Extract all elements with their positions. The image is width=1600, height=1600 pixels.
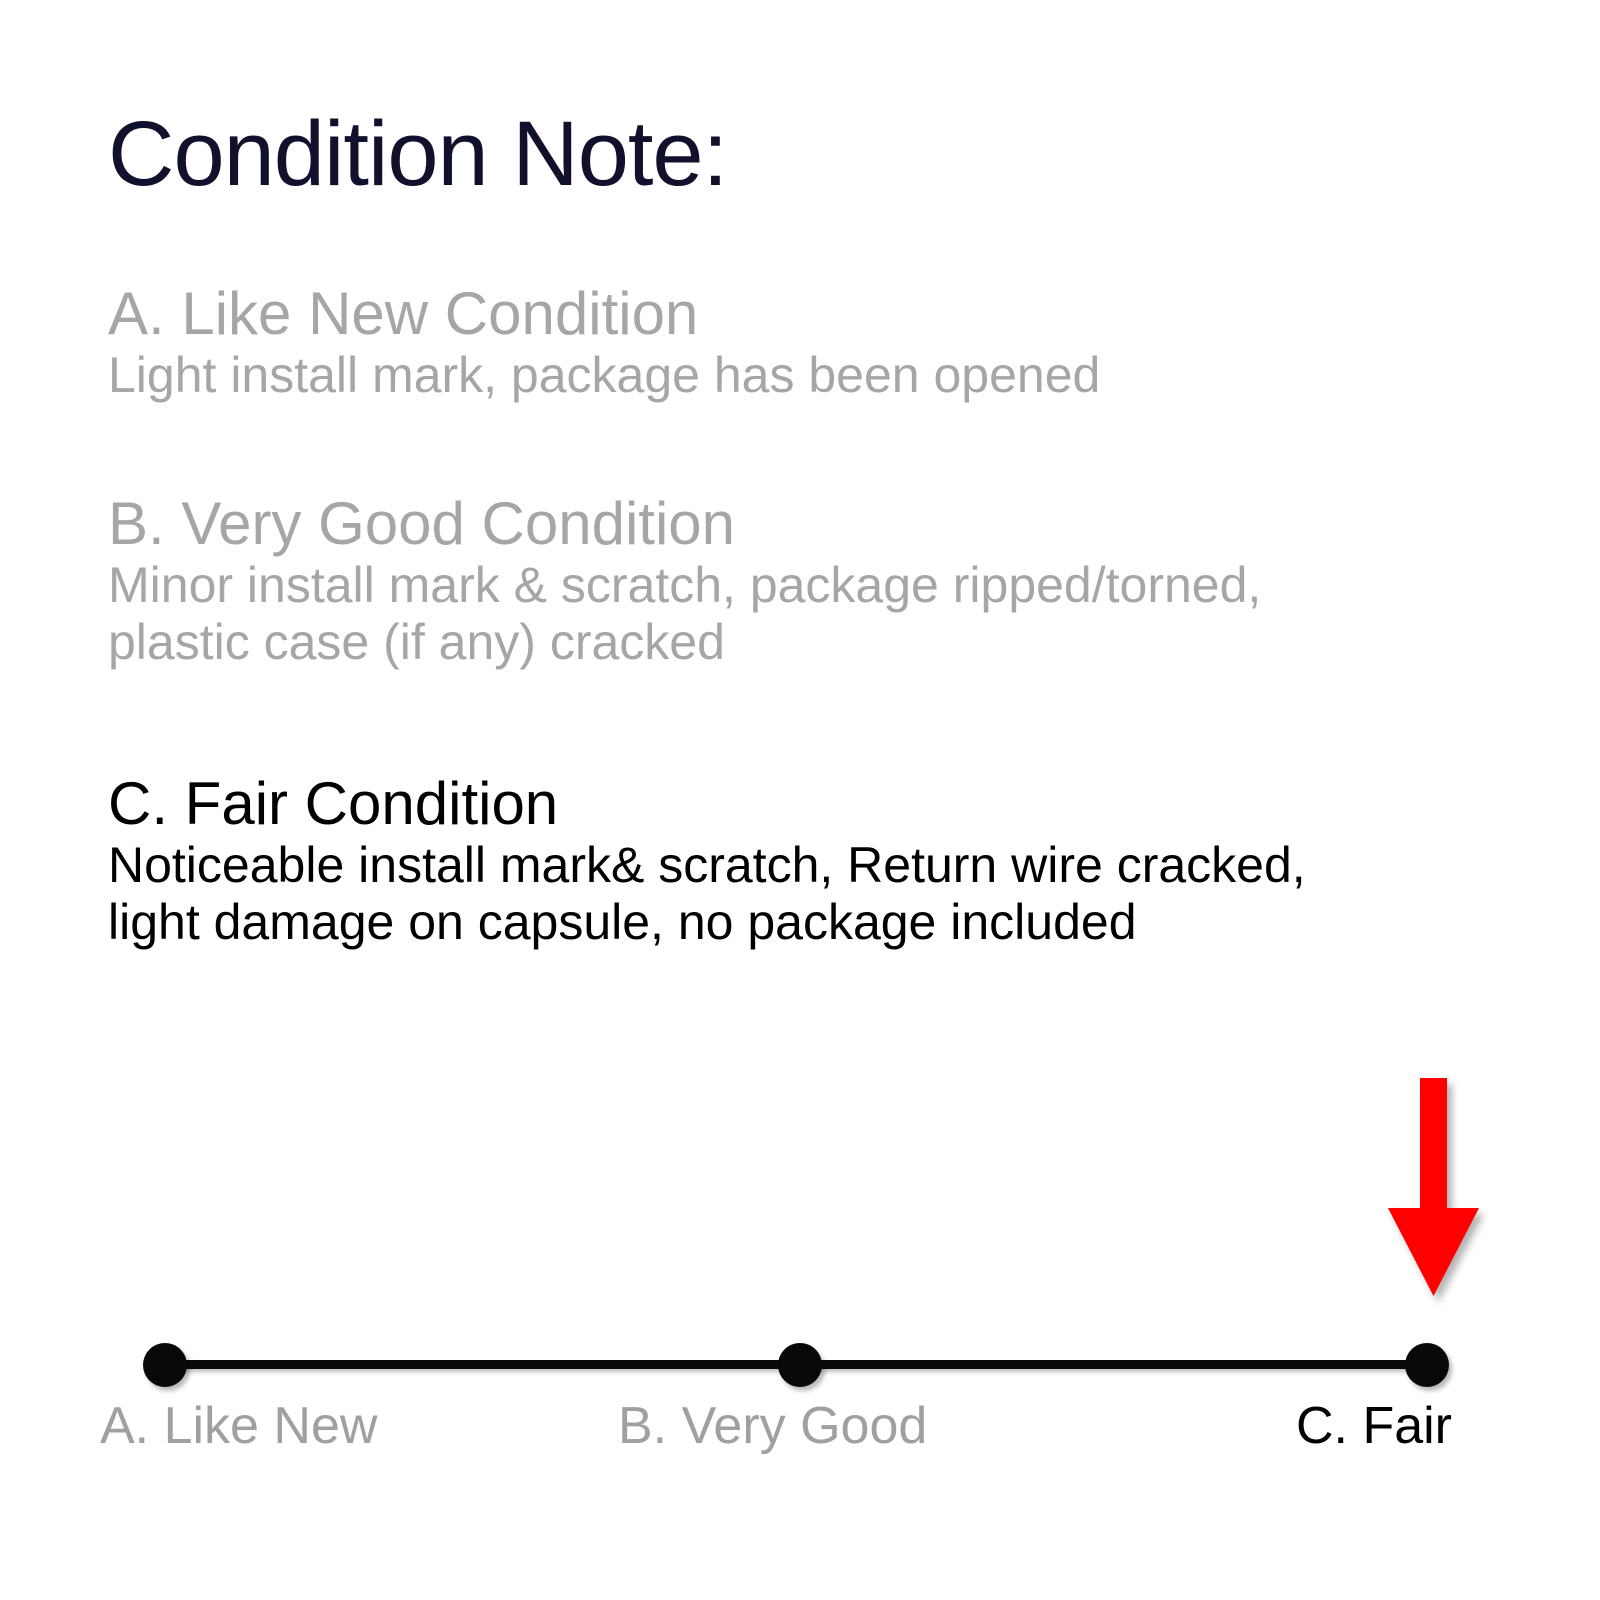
condition-block-a: A. Like New Condition Light install mark…	[108, 282, 1528, 404]
down-arrow-icon	[1378, 1078, 1479, 1298]
scale-point-b	[778, 1343, 822, 1387]
condition-b-description: Minor install mark & scratch, package ri…	[108, 557, 1528, 671]
scale-axis-line	[165, 1360, 1427, 1369]
condition-c-description-line-1: Noticeable install mark& scratch, Return…	[108, 837, 1528, 894]
condition-a-description: Light install mark, package has been ope…	[108, 347, 1528, 404]
condition-a-description-line-1: Light install mark, package has been ope…	[108, 347, 1528, 404]
condition-a-heading: A. Like New Condition	[108, 282, 1528, 347]
scale-label-c: C. Fair	[1296, 1400, 1452, 1452]
condition-b-description-line-1: Minor install mark & scratch, package ri…	[108, 557, 1528, 614]
condition-c-description-line-2: light damage on capsule, no package incl…	[108, 894, 1528, 951]
condition-b-description-line-2: plastic case (if any) cracked	[108, 614, 1528, 671]
condition-c-description: Noticeable install mark& scratch, Return…	[108, 837, 1528, 951]
condition-block-b: B. Very Good Condition Minor install mar…	[108, 492, 1528, 671]
condition-block-c: C. Fair Condition Noticeable install mar…	[108, 772, 1528, 951]
condition-note-graphic: Condition Note: A. Like New Condition Li…	[0, 0, 1600, 1600]
scale-point-a	[143, 1343, 187, 1387]
condition-b-heading: B. Very Good Condition	[108, 492, 1528, 557]
scale-label-b: B. Very Good	[618, 1400, 927, 1452]
page-title: Condition Note:	[108, 108, 727, 200]
scale-point-c	[1405, 1343, 1449, 1387]
condition-c-heading: C. Fair Condition	[108, 772, 1528, 837]
scale-label-a: A. Like New	[100, 1400, 377, 1452]
